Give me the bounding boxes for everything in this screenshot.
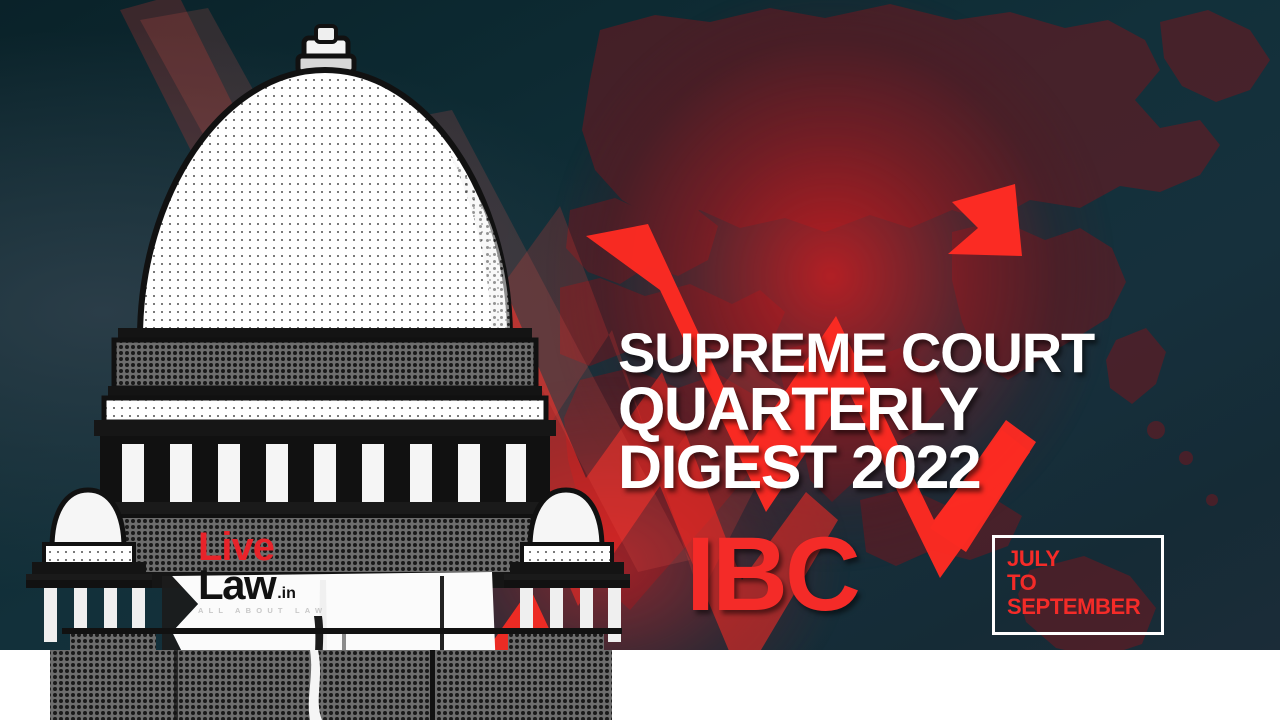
logo-law-row: Law .in — [198, 566, 388, 605]
date-line-3: SEPTEMBER — [1007, 595, 1161, 619]
date-range-box: JULY TO SEPTEMBER — [992, 535, 1164, 635]
headline-line-1: SUPREME COURT — [618, 327, 1178, 379]
subject-title: IBC — [686, 522, 858, 627]
headline-line-3: DIGEST 2022 — [618, 439, 1178, 495]
livelaw-logo[interactable]: Live Law .in ALL ABOUT LAW — [198, 529, 388, 615]
poster-canvas: Live Law .in ALL ABOUT LAW SUPREME COURT… — [0, 0, 1280, 720]
poster-background: Live Law .in ALL ABOUT LAW SUPREME COURT… — [0, 0, 1280, 650]
logo-tagline: ALL ABOUT LAW — [198, 607, 388, 615]
headline-block: SUPREME COURT QUARTERLY DIGEST 2022 — [618, 327, 1178, 495]
logo-domain-text: .in — [277, 587, 296, 602]
date-range-inner: JULY TO SEPTEMBER — [995, 538, 1161, 618]
subject-and-date-row: IBC JULY TO SEPTEMBER — [618, 522, 1188, 648]
date-line-2: TO — [1007, 571, 1161, 595]
headline-line-2: QUARTERLY — [618, 381, 1178, 437]
date-line-1: JULY — [1007, 547, 1161, 571]
bottom-white-strip — [0, 650, 1280, 720]
logo-law-text: Law — [198, 566, 275, 605]
